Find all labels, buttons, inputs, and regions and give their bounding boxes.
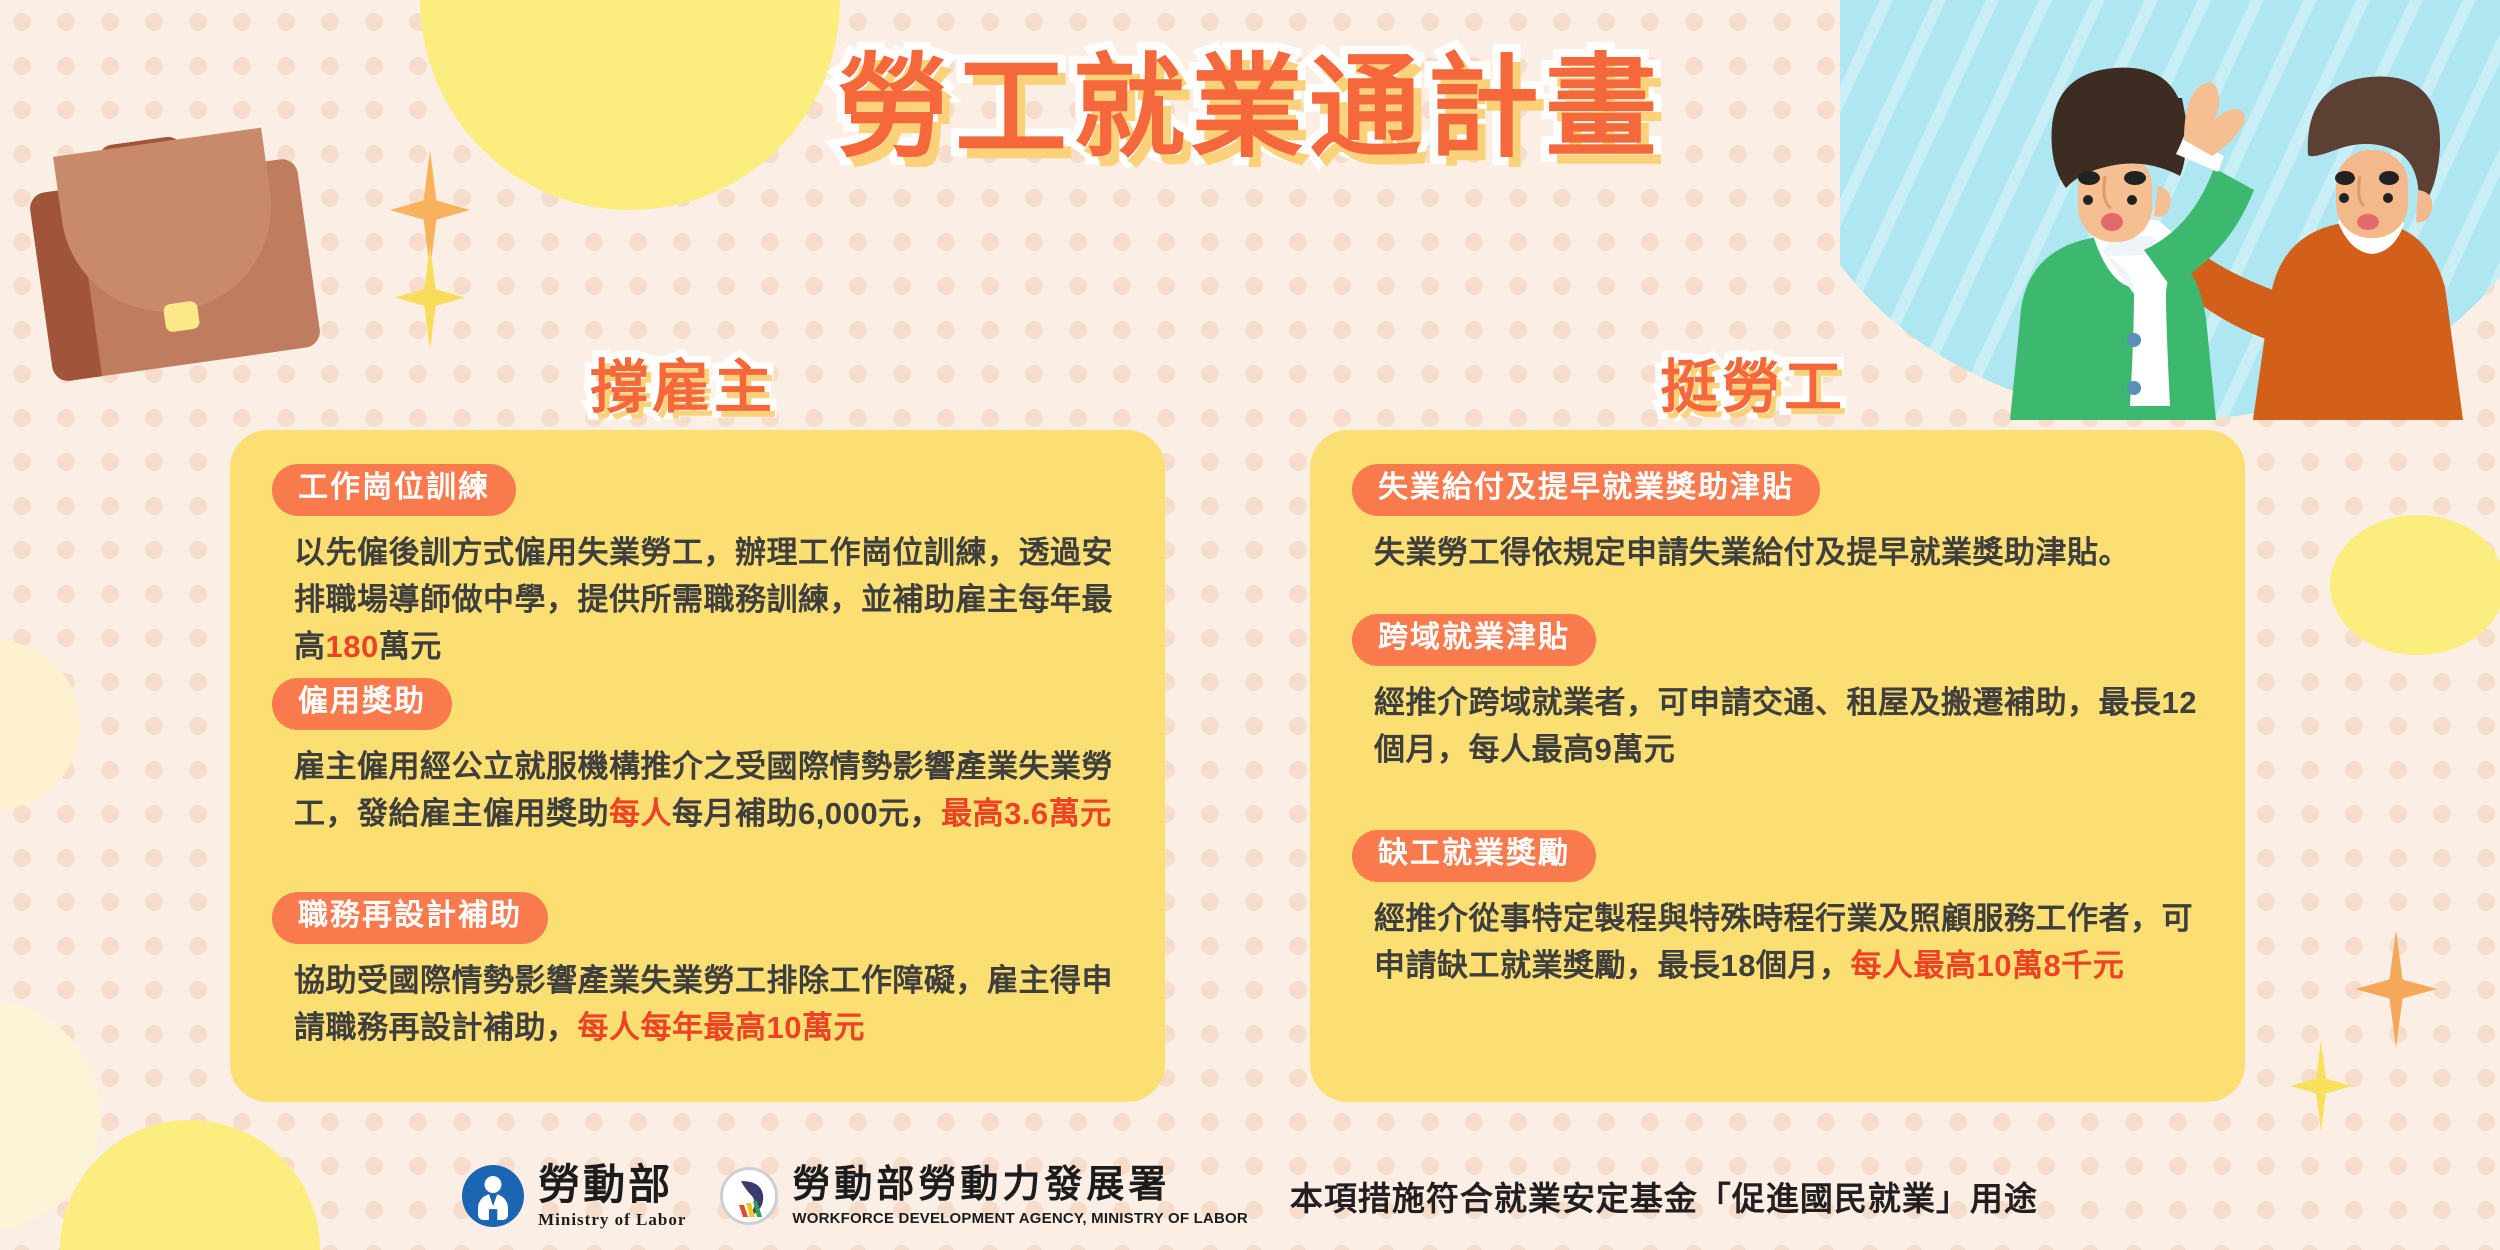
highlighted-amount: 最高3.6萬元 <box>941 796 1112 831</box>
section-body-text: 經推介從事特定製程與特殊時程行業及照顧服務工作者，可申請缺工就業獎勵，最長18個… <box>1352 895 2213 989</box>
column-heading-workers: 挺勞工 <box>1660 340 1846 424</box>
section-body-text: 雇主僱用經公立就服機構推介之受國際情勢影響產業失業勞工，發給雇主僱用獎助每人每月… <box>272 743 1133 837</box>
section-cross-region-allowance: 跨域就業津貼 經推介跨域就業者，可申請交通、租屋及搬遷補助，最長12個月，每人最… <box>1352 614 2213 773</box>
section-unemployment-benefit: 失業給付及提早就業獎助津貼 失業勞工得依規定申請失業給付及提早就業獎助津貼。 <box>1352 464 2213 576</box>
sparkle-star-icon <box>395 245 465 350</box>
section-pill-label: 職務再設計補助 <box>272 892 548 944</box>
body-text-run: 每月補助6,000元， <box>672 796 941 831</box>
agency-name-en: WORKFORCE DEVELOPMENT AGENCY, MINISTRY O… <box>792 1211 1248 1226</box>
wda-emblem-icon <box>720 1167 778 1225</box>
page-title: 勞工就業通計畫 <box>0 48 2500 169</box>
briefcase-lock <box>163 300 201 332</box>
column-heading-employers: 撐雇主 <box>590 340 776 424</box>
yellow-ellipse-right-decoration <box>2330 515 2500 655</box>
section-job-redesign-subsidy: 職務再設計補助 協助受國際情勢影響產業失業勞工排除工作障礙，雇主得申請職務再設計… <box>272 892 1133 1051</box>
highlighted-amount: 每人 <box>609 796 672 831</box>
ministry-name-en: Ministry of Labor <box>538 1211 686 1228</box>
section-pill-label: 工作崗位訓練 <box>272 464 516 516</box>
workforce-development-agency-logo: 勞動部勞動力發展署 WORKFORCE DEVELOPMENT AGENCY, … <box>720 1166 1248 1226</box>
body-text-run: 萬元 <box>379 629 442 664</box>
body-text-run: 經推介跨域就業者，可申請交通、租屋及搬遷補助，最長12個月，每人最高9萬元 <box>1374 685 2197 767</box>
briefcase-icon <box>28 157 322 383</box>
section-body-text: 經推介跨域就業者，可申請交通、租屋及搬遷補助，最長12個月，每人最高9萬元 <box>1352 679 2213 773</box>
section-pill-label: 僱用獎助 <box>272 678 452 730</box>
wda-wordmark: 勞動部勞動力發展署 WORKFORCE DEVELOPMENT AGENCY, … <box>792 1166 1248 1226</box>
card-employers: 工作崗位訓練 以先僱後訓方式僱用失業勞工，辦理工作崗位訓練，透過安排職場導師做中… <box>230 430 1165 1102</box>
section-hiring-subsidy: 僱用獎助 雇主僱用經公立就服機構推介之受國際情勢影響產業失業勞工，發給雇主僱用獎… <box>272 678 1133 837</box>
highlighted-amount: 每人每年最高10萬元 <box>578 1010 865 1045</box>
ministry-of-labor-wordmark: 勞動部 Ministry of Labor <box>538 1164 686 1228</box>
section-pill-label: 失業給付及提早就業獎助津貼 <box>1352 464 1820 516</box>
wda-swoosh-glyph <box>735 1179 767 1219</box>
section-pill-label: 跨域就業津貼 <box>1352 614 1596 666</box>
cream-circle-left-decoration <box>0 640 80 810</box>
ministry-of-labor-logo: 勞動部 Ministry of Labor <box>462 1164 686 1228</box>
agency-name-cn: 勞動部勞動力發展署 <box>792 1166 1248 1204</box>
section-body-text: 協助受國際情勢影響產業失業勞工排除工作障礙，雇主得申請職務再設計補助，每人每年最… <box>272 957 1133 1051</box>
body-text-run: 失業勞工得依規定申請失業給付及提早就業獎助津貼。 <box>1374 535 2130 570</box>
section-labor-shortage-incentive: 缺工就業獎勵 經推介從事特定製程與特殊時程行業及照顧服務工作者，可申請缺工就業獎… <box>1352 830 2213 989</box>
section-body-text: 以先僱後訓方式僱用失業勞工，辦理工作崗位訓練，透過安排職場導師做中學，提供所需職… <box>272 529 1133 670</box>
sparkle-star-icon <box>2355 930 2437 1048</box>
footer-bar: 勞動部 Ministry of Labor 勞動部勞動力發展署 WORKFORC… <box>0 1164 2500 1228</box>
funding-note: 本項措施符合就業安定基金「促進國民就業」用途 <box>1290 1172 2038 1220</box>
section-body-text: 失業勞工得依規定申請失業給付及提早就業獎助津貼。 <box>1352 529 2213 576</box>
section-job-training: 工作崗位訓練 以先僱後訓方式僱用失業勞工，辦理工作崗位訓練，透過安排職場導師做中… <box>272 464 1133 670</box>
ministry-of-labor-emblem-icon <box>462 1165 524 1227</box>
card-workers: 失業給付及提早就業獎助津貼 失業勞工得依規定申請失業給付及提早就業獎助津貼。 跨… <box>1310 430 2245 1102</box>
ministry-name-cn: 勞動部 <box>538 1164 686 1206</box>
sparkle-star-icon <box>2290 1040 2352 1132</box>
highlighted-amount: 180 <box>326 629 379 664</box>
poster-canvas: 勞工就業通計畫 撐雇主 挺勞工 工作崗位訓練 以先僱後訓方式僱用失業勞工，辦理工… <box>0 0 2500 1250</box>
section-pill-label: 缺工就業獎勵 <box>1352 830 1596 882</box>
highlighted-amount: 每人最高10萬8千元 <box>1850 948 2124 983</box>
